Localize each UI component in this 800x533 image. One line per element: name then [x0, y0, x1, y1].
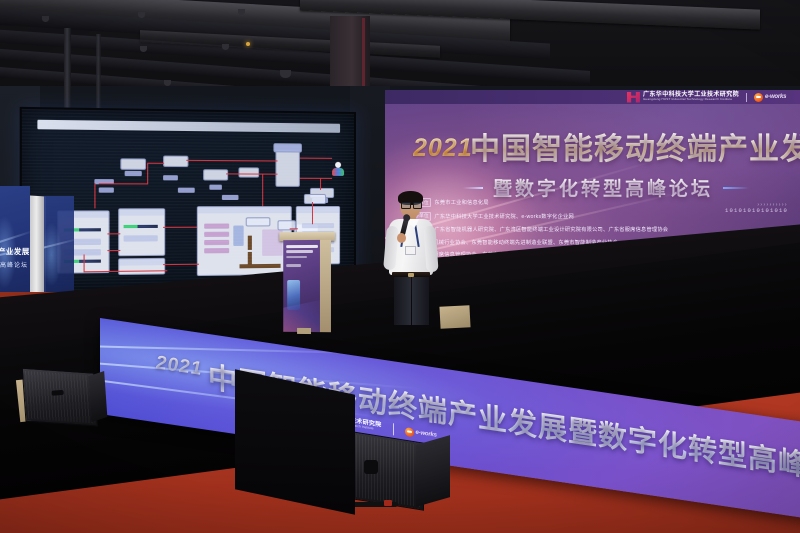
- hust-logo-icon: [627, 92, 640, 103]
- flow-node-mes: [304, 194, 326, 204]
- flow-node: [203, 169, 228, 180]
- presenter-hand: [397, 233, 406, 243]
- flow-label: [125, 171, 142, 176]
- presenter-belt-buckle: [408, 273, 414, 277]
- banner-year: 2021: [413, 134, 473, 163]
- connector: [226, 173, 277, 174]
- eworks-logo-text: e-works: [765, 94, 786, 100]
- wooden-box-prop: [439, 305, 470, 329]
- ceiling-light: [42, 16, 49, 22]
- standee-title: 产业发展: [0, 246, 30, 257]
- ceiling-light: [238, 9, 245, 15]
- cable-connector: [384, 500, 392, 506]
- presenter-leg: [394, 275, 411, 325]
- organizer-row: 指导单位 东莞市工业和信息化局: [407, 198, 707, 207]
- flow-node-erp: [275, 150, 299, 187]
- group-box: [118, 258, 165, 275]
- connector: [320, 178, 321, 190]
- podium-title-line-2: [286, 250, 312, 253]
- ceiling-light: [140, 46, 147, 52]
- monitor-side: [88, 371, 107, 422]
- organizer-text: 广东华中科技大学工业技术研究院、e-works数字化企业网: [434, 213, 574, 220]
- ceiling-light: [222, 44, 229, 50]
- ceiling-light: [280, 70, 291, 78]
- riser-year: 2021: [156, 352, 202, 381]
- presenter-leg: [412, 275, 429, 325]
- institute-name-en: Guangdong HUST Industrial Technology Res…: [643, 99, 739, 102]
- eworks-e-icon: [754, 93, 763, 102]
- podium-base-stem: [297, 328, 311, 334]
- monitor-handle: [364, 460, 378, 474]
- flow-label: [163, 175, 178, 180]
- glasses-icon: [401, 202, 420, 208]
- flow-label: [178, 188, 195, 193]
- connector: [99, 183, 148, 184]
- presenter-name-badge: [405, 246, 416, 255]
- organizer-row: 协办单位 广东省智能机器人研究院、广东湾区智能终端工业设计研究院有限公司、广东省…: [407, 225, 707, 234]
- ceiling-lamp-lit: [246, 42, 250, 46]
- group-box-workshop: [197, 206, 292, 276]
- monitor-grill: [22, 368, 98, 427]
- standee-subtitle: 高峰论坛: [0, 260, 28, 269]
- podium-title-line: [286, 245, 318, 248]
- podium-logo-line: [286, 264, 301, 267]
- organizer-text: 广东省智能机器人研究院、广东湾区智能终端工业设计研究院有限公司、广东省服席信息管…: [434, 226, 668, 233]
- podium-lectern: [283, 232, 331, 332]
- connector: [186, 160, 277, 162]
- podium-phone-graphic: [287, 280, 300, 310]
- monitor-handle: [51, 390, 63, 396]
- banner-subtitle-row: 暨数字化转型高峰论坛: [463, 174, 749, 201]
- banner-sub-title: 暨数字化转型高峰论坛: [493, 174, 713, 201]
- presenter-speaker: [381, 193, 443, 325]
- flow-label: [99, 187, 114, 192]
- flow-node: [238, 167, 259, 177]
- black-drape: [235, 369, 355, 515]
- group-box: [118, 208, 165, 256]
- flow-node: [120, 158, 146, 170]
- banner-header-strip: 广东华中科技大学工业技术研究院 Guangdong HUST Industria…: [385, 90, 800, 104]
- connector: [262, 174, 263, 209]
- podium-front-panel: [283, 240, 321, 332]
- truss-column: [64, 28, 71, 120]
- ceiling-light: [138, 12, 145, 18]
- customer-icon: [330, 162, 346, 178]
- stage-monitor-left: [14, 363, 110, 435]
- monitor-side: [416, 435, 450, 507]
- connector: [94, 183, 95, 208]
- connector: [147, 163, 164, 164]
- connector: [300, 158, 332, 159]
- binary-digits: 10101010101010: [725, 208, 788, 215]
- eworks-logo: e-works: [754, 93, 786, 102]
- podium-side: [320, 240, 331, 332]
- connector: [147, 163, 148, 185]
- flow-node-header: [273, 143, 301, 152]
- header-divider: [746, 93, 747, 102]
- presenter-arm: [423, 226, 438, 273]
- subtitle-dash-right: [723, 187, 749, 189]
- binary-decoration: ›››››››››› 10101010101010: [725, 202, 788, 215]
- podium-subtitle-line: [286, 256, 307, 258]
- flow-label: [222, 195, 239, 200]
- flow-label: [209, 185, 222, 190]
- banner-main-title: 中国智能移动终端产业发展: [470, 124, 800, 168]
- organizer-row: 主办单位 广东华中科技大学工业技术研究院、e-works数字化企业网: [407, 212, 707, 221]
- conference-stage-photo: 广东华中科技大学工业技术研究院 Guangdong HUST Industria…: [0, 0, 800, 533]
- flow-node: [163, 156, 188, 168]
- subtitle-dash-left: [463, 187, 483, 189]
- connector: [300, 178, 332, 179]
- slide-title-bar: [37, 120, 340, 133]
